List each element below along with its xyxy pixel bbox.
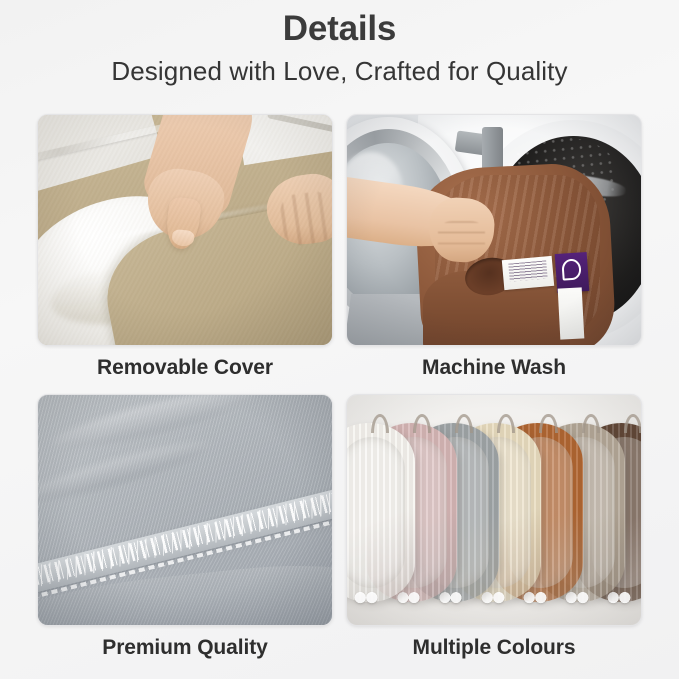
baby-nest-pod	[346, 423, 415, 602]
vignette	[347, 115, 641, 345]
feature-image-premium-quality	[37, 394, 333, 626]
feature-card-multiple-colours[interactable]: Multiple Colours	[346, 394, 642, 668]
details-infographic: Details Designed with Love, Crafted for …	[0, 0, 679, 679]
page-title: Details	[0, 8, 679, 49]
feature-card-premium-quality[interactable]: Premium Quality	[37, 394, 333, 668]
feature-image-removable-cover	[37, 114, 333, 346]
feature-caption-machine-wash: Machine Wash	[346, 346, 642, 388]
feature-grid: Removable Cover	[37, 114, 642, 668]
feature-caption-multiple-colours: Multiple Colours	[346, 626, 642, 668]
feature-card-machine-wash[interactable]: Machine Wash	[346, 114, 642, 388]
vignette	[38, 395, 332, 625]
feature-image-multiple-colours	[346, 394, 642, 626]
feature-caption-removable-cover: Removable Cover	[37, 346, 333, 388]
header: Details Designed with Love, Crafted for …	[0, 0, 679, 89]
pod-ribbon-bow	[354, 586, 378, 615]
feature-caption-premium-quality: Premium Quality	[37, 626, 333, 668]
feature-card-removable-cover[interactable]: Removable Cover	[37, 114, 333, 388]
page-subtitle: Designed with Love, Crafted for Quality	[0, 55, 679, 89]
baby-nest-row	[347, 395, 641, 625]
feature-image-machine-wash	[346, 114, 642, 346]
vignette	[38, 115, 332, 345]
pod-ribbing	[346, 423, 415, 602]
